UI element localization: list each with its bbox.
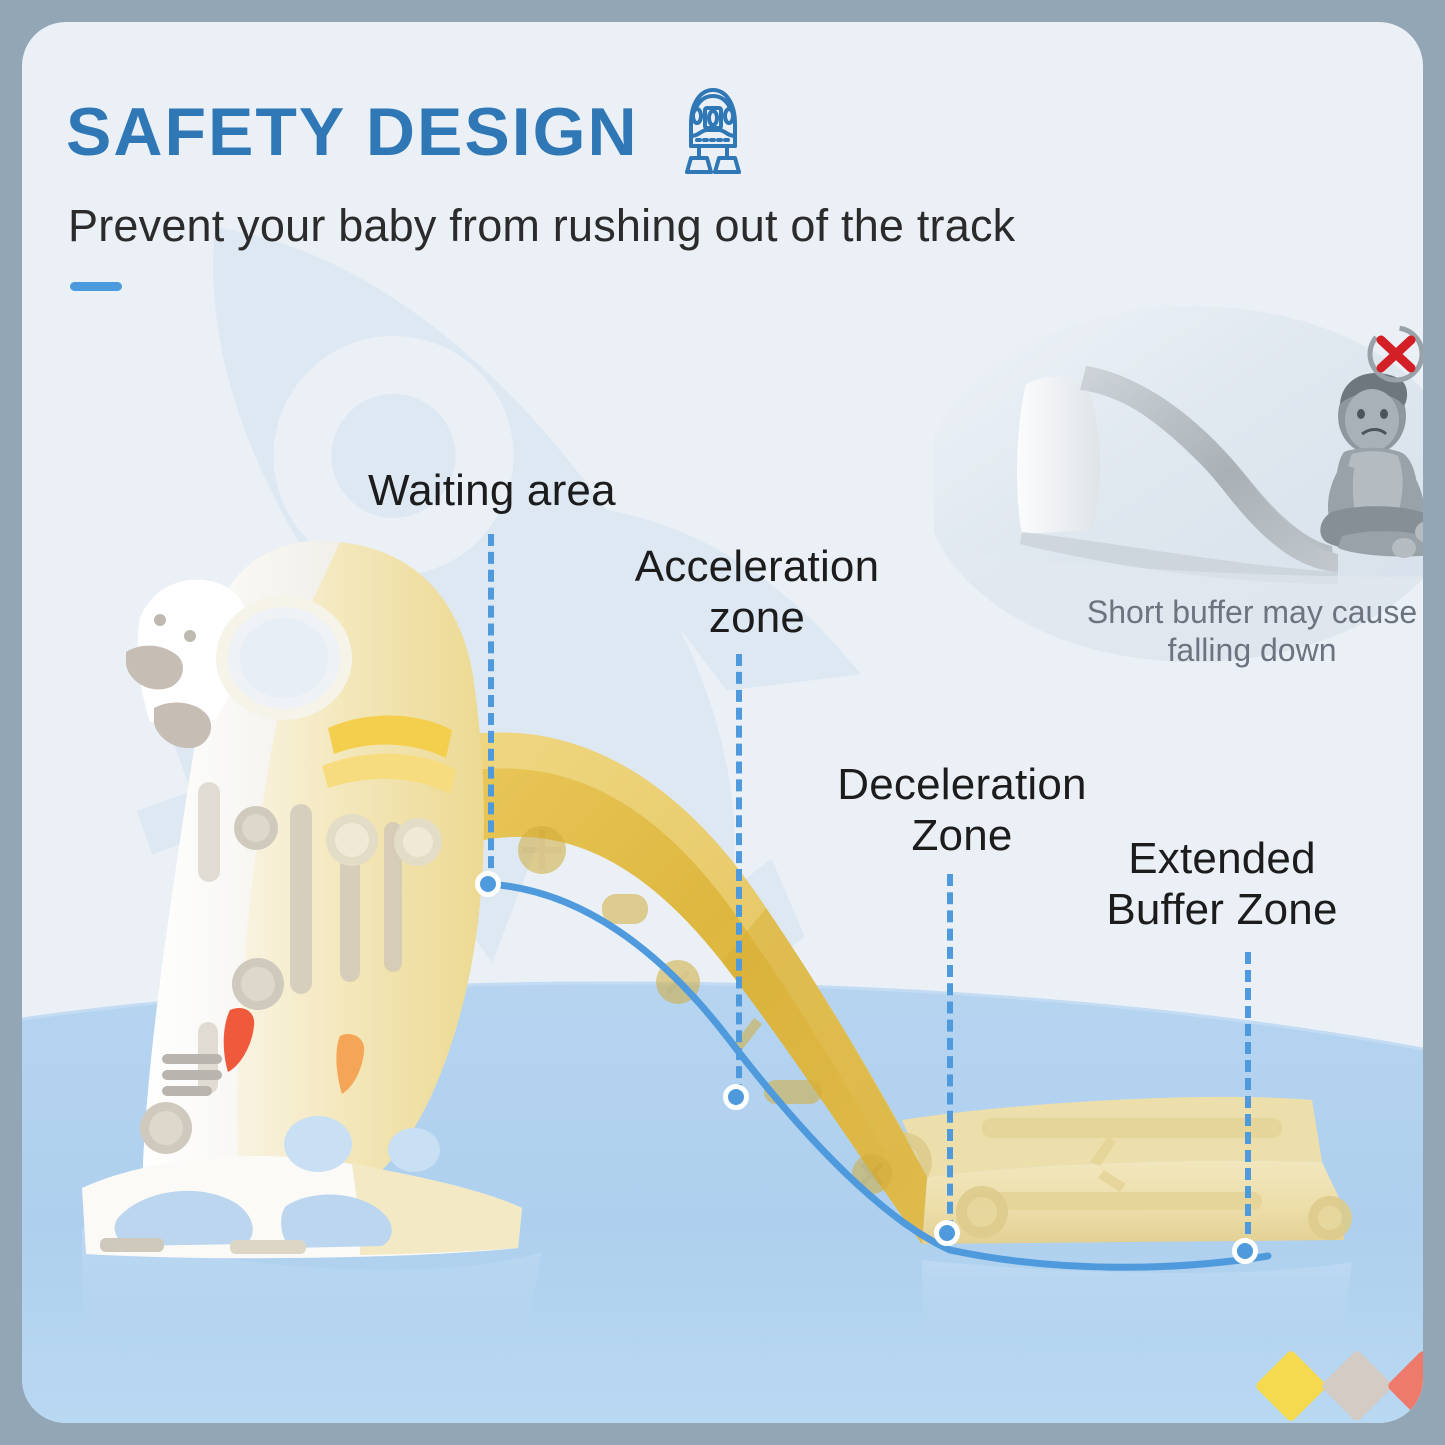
inset-caption-line1: Short buffer may cause [1042, 594, 1423, 632]
swatch-beige[interactable] [1320, 1349, 1394, 1423]
accent-bar [70, 282, 122, 291]
swatch-coral[interactable] [1386, 1349, 1423, 1423]
swatch-yellow[interactable] [1254, 1349, 1328, 1423]
callout-label-waiting: Waiting area [368, 466, 616, 517]
callout-label-extended-buffer: Extended Buffer Zone [1037, 834, 1407, 935]
color-swatches [1265, 1360, 1423, 1412]
callout-marker-waiting[interactable] [475, 871, 501, 897]
page-title: SAFETY DESIGN [66, 98, 639, 166]
callout-label-acceleration: Acceleration zone [582, 542, 932, 643]
callout-marker-extended[interactable] [1232, 1238, 1258, 1264]
infographic-stage: Waiting area Acceleration zone Decelerat… [0, 0, 1445, 1445]
callout-line-waiting [488, 534, 494, 886]
inset-caption-line2: falling down [1042, 632, 1423, 670]
infographic-card: Waiting area Acceleration zone Decelerat… [22, 22, 1423, 1423]
callout-label-acceleration-line2: zone [582, 593, 932, 644]
page-subtitle: Prevent your baby from rushing out of th… [68, 200, 1015, 252]
inset-caption: Short buffer may cause falling down [1042, 594, 1423, 670]
callout-line-decel [947, 874, 953, 1232]
rocket-lander-icon [673, 84, 753, 180]
callout-line-accel [736, 654, 742, 1096]
header: SAFETY DESIGN [66, 84, 753, 180]
callout-label-acceleration-line1: Acceleration [582, 542, 932, 593]
callout-label-extended-buffer-line2: Buffer Zone [1037, 885, 1407, 936]
callout-label-waiting-text: Waiting area [368, 466, 616, 515]
callout-label-extended-buffer-line1: Extended [1037, 834, 1407, 885]
callout-marker-decel[interactable] [934, 1220, 960, 1246]
callout-line-extended [1245, 952, 1251, 1252]
callout-marker-accel[interactable] [723, 1084, 749, 1110]
callout-label-deceleration-line1: Deceleration [792, 760, 1132, 811]
